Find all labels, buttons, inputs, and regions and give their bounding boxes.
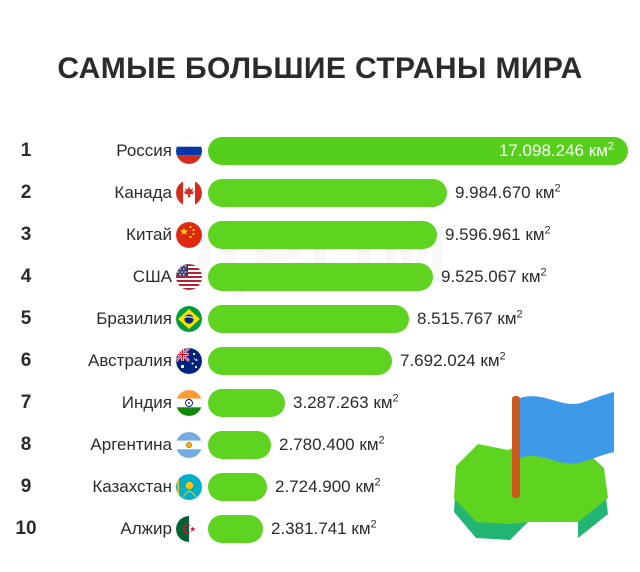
- area-bar: [208, 221, 437, 249]
- area-value-label: 17.098.246 км2: [499, 130, 614, 172]
- ranking-row: 8Аргентина2.780.400 км2: [0, 424, 640, 466]
- ranking-row: 6Австралия7.692.024 км2: [0, 340, 640, 382]
- area-value-label: 8.515.767 км2: [417, 298, 523, 340]
- area-bar: [208, 305, 409, 333]
- area-value-label: 3.287.263 км2: [293, 382, 399, 424]
- country-name: Аргентина: [56, 424, 172, 466]
- ranking-row: 5Бразилия8.515.767 км2: [0, 298, 640, 340]
- rank-number: 1: [0, 130, 52, 172]
- rank-number: 8: [0, 424, 52, 466]
- ranking-row: 1Россия17.098.246 км2: [0, 130, 640, 172]
- flag-algeria-icon: [176, 516, 202, 542]
- flag-australia-icon: [176, 348, 202, 374]
- area-value-label: 9.984.670 км2: [455, 172, 561, 214]
- area-unit: км: [373, 393, 392, 412]
- area-value-label: 2.724.900 км2: [275, 466, 381, 508]
- ranking-row: 9Казахстан2.724.900 км2: [0, 466, 640, 508]
- flag-china-icon: [176, 222, 202, 248]
- country-name: Бразилия: [56, 298, 172, 340]
- ranking-row: 4США9.525.067 км2: [0, 256, 640, 298]
- area-unit-exponent: 2: [393, 392, 399, 404]
- flag-brazil-icon: [176, 306, 202, 332]
- area-unit: км: [521, 267, 540, 286]
- area-bar: [208, 431, 271, 459]
- area-unit-exponent: 2: [375, 476, 381, 488]
- bar-area: 8.515.767 км2: [208, 298, 640, 340]
- area-unit: км: [480, 351, 499, 370]
- country-name: Казахстан: [56, 466, 172, 508]
- area-value-number: 2.381.741: [271, 519, 347, 538]
- area-bar: [208, 263, 433, 291]
- flag-india-icon: [176, 390, 202, 416]
- flag-kazakhstan-icon: [176, 474, 202, 500]
- rank-number: 9: [0, 466, 52, 508]
- ranking-row: 2Канада9.984.670 км2: [0, 172, 640, 214]
- rank-number: 2: [0, 172, 52, 214]
- area-value-number: 2.780.400: [279, 435, 355, 454]
- flag-canada-icon: [176, 180, 202, 206]
- area-value-number: 17.098.246: [499, 141, 584, 160]
- area-value-number: 8.515.767: [417, 309, 493, 328]
- area-unit: км: [355, 477, 374, 496]
- area-unit-exponent: 2: [545, 224, 551, 236]
- ranking-row: 3Китай9.596.961 км2: [0, 214, 640, 256]
- bar-area: 9.525.067 км2: [208, 256, 640, 298]
- rank-number: 3: [0, 214, 52, 256]
- ranking-row: 10Алжир2.381.741 км2: [0, 508, 640, 550]
- area-unit: км: [359, 435, 378, 454]
- area-bar: [208, 389, 285, 417]
- country-ranking-list: 1Россия17.098.246 км22Канада9.984.670 км…: [0, 130, 640, 550]
- area-unit-exponent: 2: [379, 434, 385, 446]
- area-value-number: 9.984.670: [455, 183, 531, 202]
- area-unit: км: [497, 309, 516, 328]
- area-value-number: 3.287.263: [293, 393, 369, 412]
- area-bar: [208, 179, 447, 207]
- area-value-number: 7.692.024: [400, 351, 476, 370]
- area-unit-exponent: 2: [517, 308, 523, 320]
- area-value-number: 9.596.961: [445, 225, 521, 244]
- area-value-label: 9.596.961 км2: [445, 214, 551, 256]
- area-value-label: 9.525.067 км2: [441, 256, 547, 298]
- bar-area: 9.984.670 км2: [208, 172, 640, 214]
- area-value-label: 7.692.024 км2: [400, 340, 506, 382]
- bar-area: 2.780.400 км2: [208, 424, 640, 466]
- area-bar: [208, 473, 267, 501]
- bar-area: 9.596.961 км2: [208, 214, 640, 256]
- area-unit-exponent: 2: [371, 518, 377, 530]
- area-unit-exponent: 2: [500, 350, 506, 362]
- country-name: Россия: [56, 130, 172, 172]
- area-unit: км: [525, 225, 544, 244]
- area-unit: км: [351, 519, 370, 538]
- area-value-number: 2.724.900: [275, 477, 351, 496]
- area-bar: [208, 515, 263, 543]
- country-name: Канада: [56, 172, 172, 214]
- rank-number: 4: [0, 256, 52, 298]
- flag-russia-icon: [176, 138, 202, 164]
- country-name: Австралия: [56, 340, 172, 382]
- rank-number: 5: [0, 298, 52, 340]
- country-name: Алжир: [56, 508, 172, 550]
- area-value-label: 2.780.400 км2: [279, 424, 385, 466]
- bar-area: 2.724.900 км2: [208, 466, 640, 508]
- ranking-row: 7Индия3.287.263 км2: [0, 382, 640, 424]
- area-bar: [208, 347, 392, 375]
- country-name: Индия: [56, 382, 172, 424]
- rank-number: 7: [0, 382, 52, 424]
- infographic-page: ДРОМ САМЫЕ БОЛЬШИЕ СТРАНЫ МИРА 1Россия17…: [0, 0, 640, 572]
- bar-area: 17.098.246 км2: [208, 130, 640, 172]
- rank-number: 6: [0, 340, 52, 382]
- bar-area: 7.692.024 км2: [208, 340, 640, 382]
- area-unit-exponent: 2: [608, 140, 614, 152]
- page-title: САМЫЕ БОЛЬШИЕ СТРАНЫ МИРА: [0, 52, 640, 86]
- area-unit: км: [535, 183, 554, 202]
- area-unit-exponent: 2: [541, 266, 547, 278]
- bar-area: 2.381.741 км2: [208, 508, 640, 550]
- flag-usa-icon: [176, 264, 202, 290]
- bar-area: 3.287.263 км2: [208, 382, 640, 424]
- country-name: Китай: [56, 214, 172, 256]
- area-value-label: 2.381.741 км2: [271, 508, 377, 550]
- flag-argentina-icon: [176, 432, 202, 458]
- area-unit-exponent: 2: [555, 182, 561, 194]
- rank-number: 10: [0, 508, 52, 550]
- country-name: США: [56, 256, 172, 298]
- area-unit: км: [589, 141, 608, 160]
- area-value-number: 9.525.067: [441, 267, 517, 286]
